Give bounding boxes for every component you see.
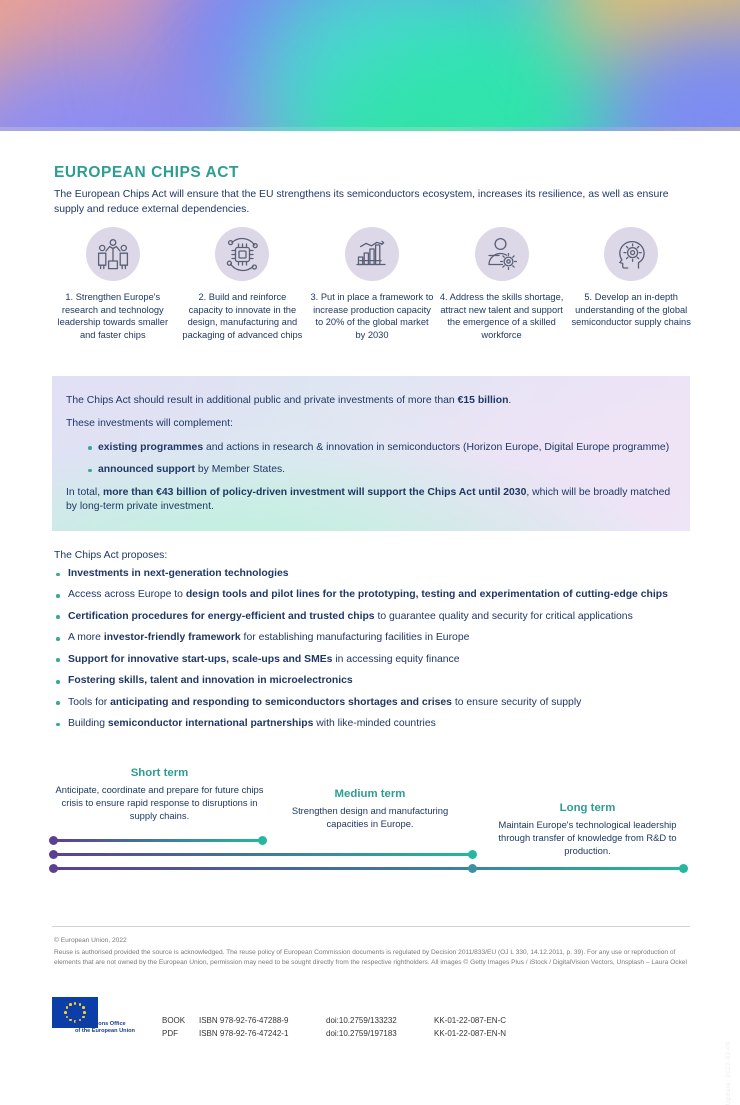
amount-15-billion: €15 billion — [458, 395, 509, 406]
list-item: Investments in next-generation technolog… — [54, 567, 694, 581]
document-page: EUROPEAN CHIPS ACT The European Chips Ac… — [0, 0, 740, 1047]
page-title: EUROPEAN CHIPS ACT — [54, 164, 239, 182]
person-gear-skills-icon — [475, 227, 529, 281]
footer-legal: © European Union, 2022 Reuse is authoris… — [54, 936, 699, 967]
identifiers-table: BOOK ISBN 978-92-76-47288-9 doi:10.2759/… — [162, 1015, 506, 1040]
timeline-start-dot-short — [49, 836, 58, 845]
intro-paragraph: The European Chips Act will ensure that … — [54, 188, 690, 217]
pillar-caption: 3. Put in place a framework to increase … — [310, 291, 434, 341]
timeline-item-short: Short term Anticipate, coordinate and pr… — [52, 767, 267, 822]
timeline-heading: Short term — [52, 767, 267, 779]
timeline-end-dot-long — [679, 864, 688, 873]
format-cell: PDF — [162, 1028, 199, 1041]
format-cell: BOOK — [162, 1015, 199, 1028]
list-item: Support for innovative start-ups, scale-… — [54, 653, 694, 667]
investment-line-1: The Chips Act should result in additiona… — [66, 394, 674, 408]
footer-divider — [52, 926, 690, 927]
banner-bottom-edge — [0, 127, 740, 131]
timeline-item-long: Long term Maintain Europe's technologica… — [485, 802, 690, 857]
timeline-end-dot-short — [258, 836, 267, 845]
pillar-caption: 4. Address the skills shortage, attract … — [440, 291, 564, 341]
list-item: Tools for anticipating and responding to… — [54, 696, 694, 710]
timeline-mid-dot-long — [468, 864, 477, 873]
timeline-bar-long — [54, 867, 683, 870]
pillars-row: 1. Strengthen Europe's research and tech… — [48, 227, 696, 341]
list-item: Access across Europe to design tools and… — [54, 588, 694, 602]
catalogue-cell: KK-01-22-087-EN-N — [434, 1028, 506, 1041]
list-item: Building semiconductor international par… — [54, 717, 694, 731]
timeline-start-dot-long — [49, 864, 58, 873]
pillar-caption: 1. Strengthen Europe's research and tech… — [51, 291, 175, 341]
isbn-cell: ISBN 978-92-76-47288-9 — [199, 1015, 326, 1028]
table-row: PDF ISBN 978-92-76-47242-1 doi:10.2759/1… — [162, 1028, 506, 1041]
list-item: Fostering skills, talent and innovation … — [54, 674, 694, 688]
pillar-item: 5. Develop an in-depth understanding of … — [566, 227, 696, 341]
copyright-line: © European Union, 2022 — [54, 936, 699, 945]
investment-total-line: In total, more than €43 billion of polic… — [66, 486, 674, 515]
catalogue-cell: KK-01-22-087-EN-C — [434, 1015, 506, 1028]
timeline-heading: Medium term — [270, 788, 470, 800]
pillar-item: 3. Put in place a framework to increase … — [307, 227, 437, 341]
publications-office-label: Publications Office of the European Unio… — [75, 1021, 135, 1035]
pillar-item: 4. Address the skills shortage, attract … — [437, 227, 567, 341]
investment-highlight-box: The Chips Act should result in additiona… — [52, 376, 690, 531]
timeline-bar-short — [54, 839, 262, 842]
pillar-caption: 2. Build and reinforce capacity to innov… — [180, 291, 304, 341]
timeline-heading: Long term — [485, 802, 690, 814]
pillar-caption: 5. Develop an in-depth understanding of … — [569, 291, 693, 329]
list-item: Certification procedures for energy-effi… — [54, 610, 694, 624]
doi-cell: doi:10.2759/133232 — [326, 1015, 434, 1028]
investment-line-2: These investments will complement: — [66, 417, 674, 431]
people-team-icon — [86, 227, 140, 281]
timeline-body: Anticipate, coordinate and prepare for f… — [52, 783, 267, 822]
amount-43-billion: more than €43 billion of policy-driven i… — [103, 487, 526, 498]
timeline-end-dot-medium — [468, 850, 477, 859]
table-row: BOOK ISBN 978-92-76-47288-9 doi:10.2759/… — [162, 1015, 506, 1028]
timeline-start-dot-medium — [49, 850, 58, 859]
microchip-network-icon — [215, 227, 269, 281]
side-update-note: Update: 2022-02-09 — [725, 1041, 732, 1105]
pillar-item: 2. Build and reinforce capacity to innov… — [178, 227, 308, 341]
proposals-list: Investments in next-generation technolog… — [54, 567, 694, 739]
timeline-body: Maintain Europe's technological leadersh… — [485, 818, 690, 857]
doi-cell: doi:10.2759/197183 — [326, 1028, 434, 1041]
pillar-item: 1. Strengthen Europe's research and tech… — [48, 227, 178, 341]
timeline-bar-medium — [54, 853, 472, 856]
growth-bar-chart-icon — [345, 227, 399, 281]
investment-bullet-list: existing programmes and actions in resea… — [66, 441, 674, 478]
list-item: A more investor-friendly framework for e… — [54, 631, 694, 645]
header-gradient-banner — [0, 0, 740, 131]
timeline-chart: Short term Anticipate, coordinate and pr… — [0, 767, 740, 877]
investment-bullet: existing programmes and actions in resea… — [88, 441, 674, 455]
head-gear-knowledge-icon — [604, 227, 658, 281]
reuse-policy-text: Reuse is authorised provided the source … — [54, 948, 699, 967]
timeline-body: Strengthen design and manufacturing capa… — [270, 804, 470, 830]
proposals-lead: The Chips Act proposes: — [54, 550, 167, 561]
timeline-item-medium: Medium term Strengthen design and manufa… — [270, 788, 470, 830]
investment-bullet: announced support by Member States. — [88, 463, 674, 477]
isbn-cell: ISBN 978-92-76-47242-1 — [199, 1028, 326, 1041]
